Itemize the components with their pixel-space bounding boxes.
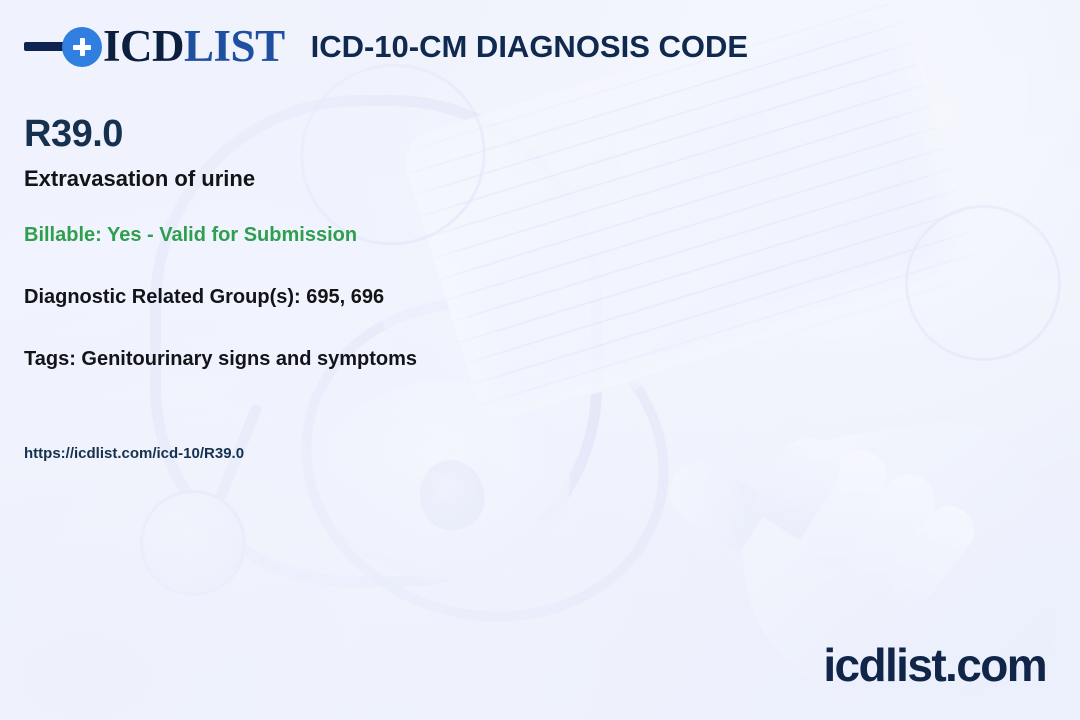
plus-icon [62,27,102,67]
diagnosis-description: Extravasation of urine [24,166,255,192]
footer-brand: icdlist.com [823,638,1046,692]
tags-line: Tags: Genitourinary signs and symptoms [24,348,417,371]
card-content: ICD LIST ICD-10-CM DIAGNOSIS CODE R39.0 … [0,0,1080,720]
dash-icon [24,42,66,51]
logo-word-icd: ICD [103,24,184,69]
plus-vertical-bar [80,38,85,56]
diagnosis-code: R39.0 [24,113,123,156]
icdlist-logo[interactable]: ICD LIST [24,24,285,69]
diagnostic-related-groups: Diagnostic Related Group(s): 695, 696 [24,286,384,309]
icd-code-card: ICD LIST ICD-10-CM DIAGNOSIS CODE R39.0 … [0,0,1080,720]
logo-word-list: LIST [184,24,285,69]
page-title: ICD-10-CM DIAGNOSIS CODE [311,29,748,65]
billable-status: Billable: Yes - Valid for Submission [24,224,357,247]
source-url[interactable]: https://icdlist.com/icd-10/R39.0 [24,445,244,462]
page-header: ICD LIST ICD-10-CM DIAGNOSIS CODE [24,24,748,69]
